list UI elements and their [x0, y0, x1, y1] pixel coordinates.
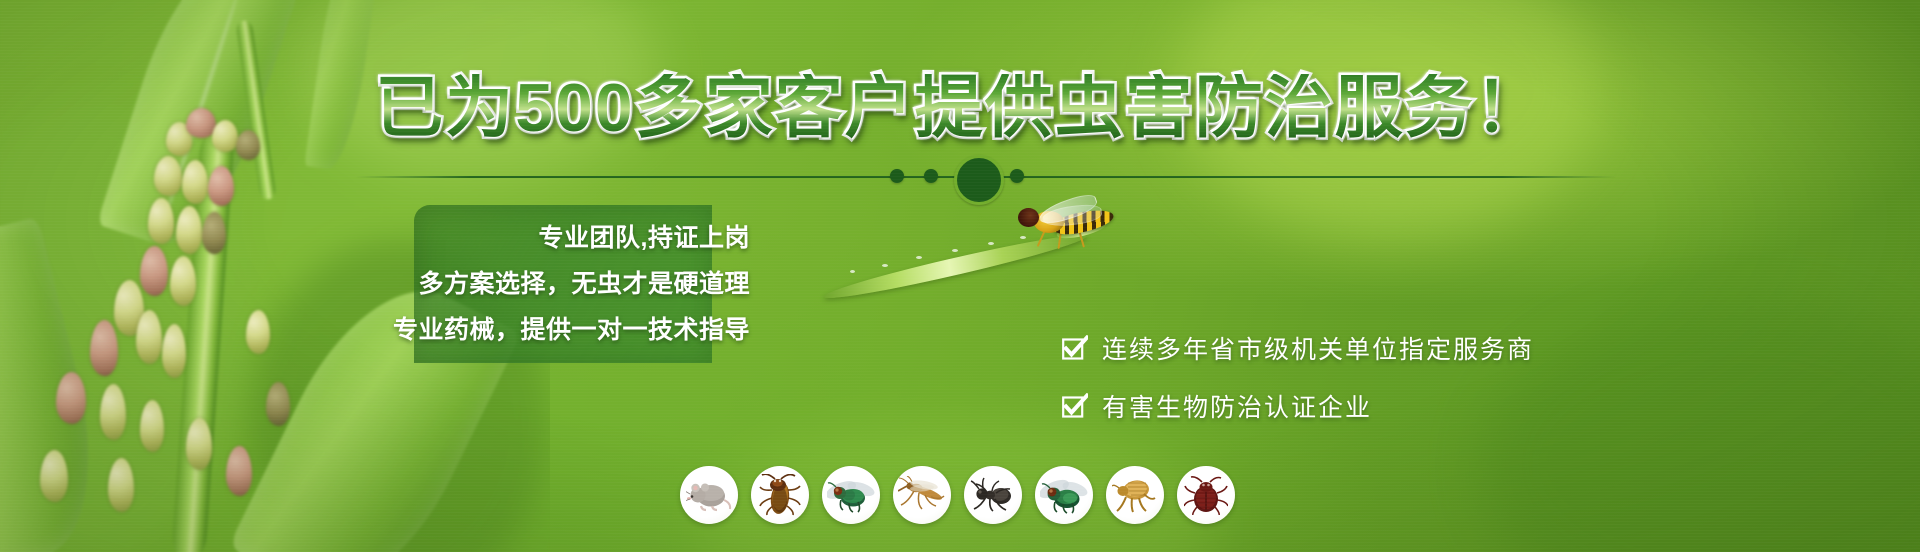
pest-control-banner: 已为500多家客户提供虫害防治服务！ 已为500多家客户提供虫害防治服务！ 专业…	[0, 0, 1920, 552]
bedbug-icon	[1177, 466, 1235, 524]
list-item-label: 连续多年省市级机关单位指定服务商	[1102, 330, 1534, 366]
feature-line-3: 专业药械，提供一对一技术指导	[338, 297, 758, 343]
list-item-label: 有害生物防治认证企业	[1102, 388, 1372, 424]
feature-line-1: 专业团队,持证上岗	[338, 212, 758, 251]
dot-icon	[1010, 169, 1024, 183]
fly-icon	[822, 466, 880, 524]
flea-icon	[1106, 466, 1164, 524]
credential-list: 连续多年省市级机关单位指定服务商 有害生物防治认证企业	[1062, 330, 1534, 446]
blowfly-icon	[1035, 466, 1093, 524]
ant-icon	[964, 466, 1022, 524]
pest-icon-row	[680, 466, 1235, 524]
list-item: 有害生物防治认证企业	[1062, 388, 1534, 424]
list-item: 连续多年省市级机关单位指定服务商	[1062, 330, 1534, 366]
dot-icon	[890, 169, 904, 183]
feature-line-2: 多方案选择，无虫才是硬道理	[338, 251, 758, 297]
dot-icon	[924, 169, 938, 183]
page-title: 已为500多家客户提供虫害防治服务！	[0, 74, 1920, 142]
cockroach-icon	[751, 466, 809, 524]
mouse-icon	[680, 466, 738, 524]
feature-panel-text: 专业团队,持证上岗 多方案选择，无虫才是硬道理 专业药械，提供一对一技术指导	[338, 212, 758, 343]
dot-large-icon	[954, 155, 1004, 205]
check-box-icon	[1062, 335, 1088, 361]
mosquito-icon	[893, 466, 951, 524]
check-box-icon	[1062, 393, 1088, 419]
decorative-dots	[890, 155, 1030, 199]
